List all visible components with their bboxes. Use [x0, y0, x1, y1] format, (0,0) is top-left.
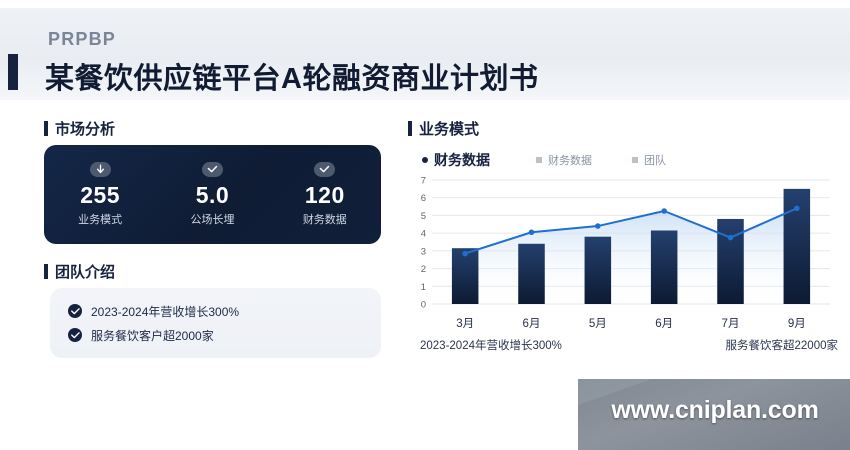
slide-root: PRPBP 某餐饮供应链平台A轮融资商业计划书 市场分析 团队介绍 业务模式 2…: [0, 0, 850, 450]
svg-text:2: 2: [421, 264, 426, 275]
stat-value: 5.0: [156, 183, 268, 207]
legend-label: 财务数据: [434, 150, 490, 170]
stat-label: 财务数据: [269, 211, 381, 227]
chart-canvas: 01234567: [408, 174, 838, 314]
page-title: 某餐饮供应链平台A轮融资商业计划书: [45, 55, 538, 97]
chart-x-axis-labels: 3月6月5月6月7月9月: [408, 315, 838, 335]
svg-text:0: 0: [421, 300, 426, 311]
section-title-market: 市场分析: [44, 118, 115, 139]
stat-item: 5.0 公场长埋: [156, 162, 268, 227]
legend-item: 团队: [632, 152, 666, 168]
market-stats-card: 255 业务模式 5.0 公场长埋 120 财务数据: [44, 145, 381, 244]
x-axis-tick-label: 6月: [655, 315, 673, 331]
legend-label: 财务数据: [548, 152, 592, 168]
x-axis-tick-label: 5月: [589, 315, 607, 331]
funding-footer-bar: 融资需求： 3000万人民币 融资用途： 位链升级/: [48, 383, 826, 427]
svg-text:7: 7: [421, 176, 426, 187]
svg-text:5: 5: [421, 211, 426, 222]
chart-legend: 财务数据 财务数据 团队: [408, 150, 838, 172]
stat-item: 120 财务数据: [269, 162, 381, 227]
legend-item: 财务数据: [422, 150, 490, 170]
x-axis-tick-label: 9月: [788, 315, 806, 331]
stat-label: 公场长埋: [156, 211, 268, 227]
stat-label: 业务模式: [44, 211, 156, 227]
legend-square-icon: [536, 157, 542, 163]
check-icon: [68, 328, 82, 342]
section-title-business-label: 业务模式: [419, 118, 479, 139]
list-item: 2023-2024年营收增长300%: [68, 299, 381, 323]
chart-plot-area: 01234567: [408, 174, 838, 314]
section-title-market-label: 市场分析: [55, 118, 115, 139]
stat-item: 255 业务模式: [44, 162, 156, 227]
legend-square-icon: [632, 157, 638, 163]
stat-value: 120: [269, 183, 381, 207]
section-title-team-label: 团队介绍: [55, 261, 115, 282]
list-item: 服务餐饮客户超2000家: [68, 323, 381, 347]
team-intro-card: 2023-2024年营收增长300% 服务餐饮客户超2000家: [50, 288, 381, 358]
legend-dot-icon: [422, 157, 428, 163]
caption-right: 服务餐饮客超22000家: [726, 337, 838, 353]
x-axis-tick-label: 7月: [722, 315, 740, 331]
business-model-chart: 财务数据 财务数据 团队 01234567 3月6月5月6月7月9月: [408, 150, 838, 365]
svg-text:3: 3: [421, 246, 426, 257]
section-accent-icon: [44, 121, 48, 136]
legend-label: 团队: [644, 152, 666, 168]
funding-use-text: 融资用途： 位链升级/: [438, 395, 827, 416]
section-accent-icon: [44, 264, 48, 279]
section-accent-icon: [408, 121, 412, 136]
chart-captions: 2023-2024年营收增长300% 服务餐饮客超22000家: [408, 337, 846, 353]
stat-value: 255: [44, 183, 156, 207]
info-icon: [90, 162, 111, 177]
check-icon: [202, 162, 223, 177]
check-icon: [314, 162, 335, 177]
svg-text:6: 6: [421, 193, 426, 204]
slide-header: PRPBP 某餐饮供应链平台A轮融资商业计划书: [0, 8, 850, 100]
svg-text:4: 4: [421, 229, 426, 240]
legend-item: 财务数据: [536, 152, 592, 168]
funding-need-text: 融资需求： 3000万人民币: [48, 395, 437, 416]
section-title-business: 业务模式: [408, 118, 479, 139]
check-icon: [68, 304, 82, 318]
header-accent-bar: [8, 54, 18, 90]
team-point-text: 服务餐饮客户超2000家: [91, 327, 214, 344]
svg-text:1: 1: [421, 282, 426, 293]
x-axis-tick-label: 3月: [456, 315, 474, 331]
team-point-text: 2023-2024年营收增长300%: [91, 303, 239, 320]
caption-left: 2023-2024年营收增长300%: [420, 337, 562, 353]
x-axis-tick-label: 6月: [523, 315, 541, 331]
header-eyebrow: PRPBP: [48, 29, 116, 50]
section-title-team: 团队介绍: [44, 261, 115, 282]
